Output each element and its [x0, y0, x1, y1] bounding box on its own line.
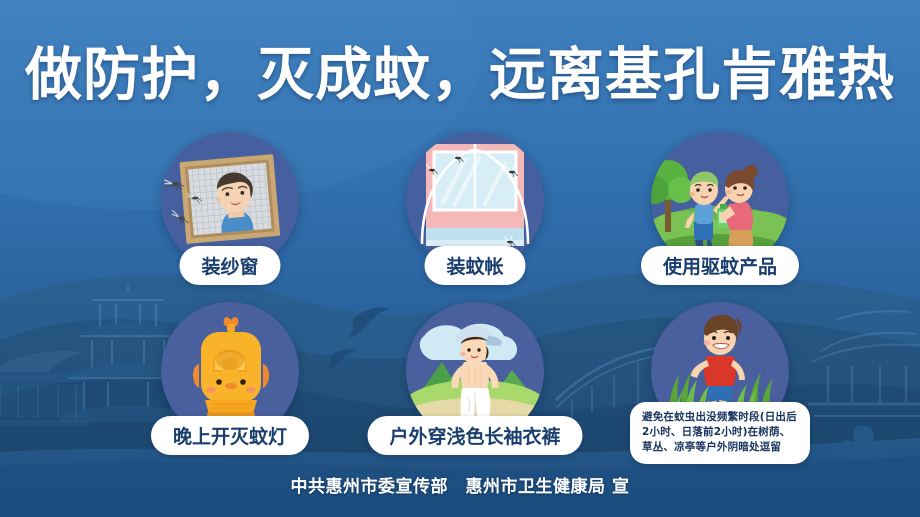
panel-mosquito-lamp-label: 晚上开灭蚊灯 [151, 416, 309, 455]
page-title: 做防护，灭成蚊，远离基孔肯雅热 [0, 46, 920, 106]
panel-mosquito-net-label: 装蚊帐 [424, 246, 525, 285]
panel-avoid-peak-hours-label: 避免在蚊虫出没频繁时段(日出后2小时、日落前2小时)在树荫、草丛、凉亭等户外阴暗… [630, 402, 810, 464]
panel-repellent-product-label: 使用驱蚊产品 [641, 246, 799, 285]
panel-light-long-sleeves-label: 户外穿浅色长袖衣裤 [367, 416, 582, 455]
panel-window-screen-label: 装纱窗 [179, 246, 280, 285]
poster-canvas: 做防护，灭成蚊，远离基孔肯雅热 [0, 0, 920, 517]
footer-credit: 中共惠州市委宣传部 惠州市卫生健康局 宣 [0, 472, 920, 497]
